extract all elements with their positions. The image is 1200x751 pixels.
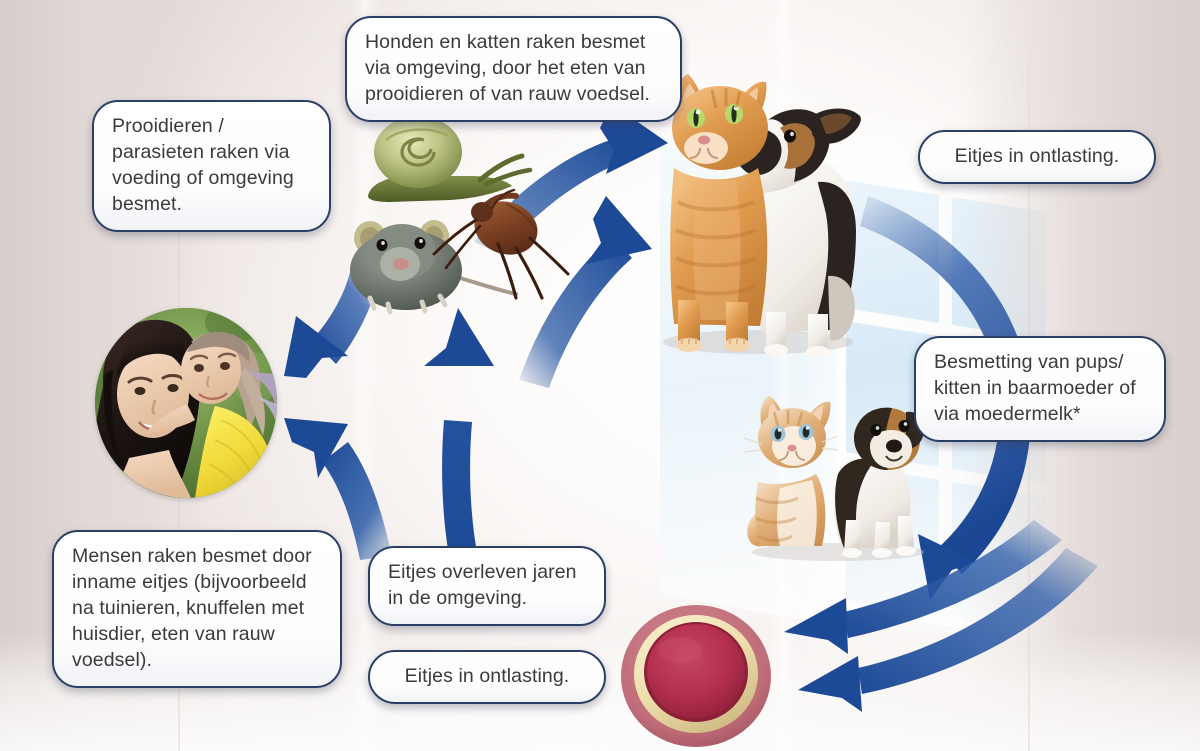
cat-figure xyxy=(670,74,768,352)
arrow-eggs-to-environment xyxy=(424,308,494,572)
puppy-figure xyxy=(833,408,924,558)
food-bowl-photo xyxy=(620,598,772,750)
callout-eggs-in-feces-right[interactable]: Eitjes in ontlasting. xyxy=(918,130,1156,184)
food-bowl-art xyxy=(620,598,772,750)
callout-eggs-survive[interactable]: Eitjes overleven jaren in de omgeving. xyxy=(368,546,606,626)
prey-animals-art xyxy=(330,112,572,310)
young-pets-art xyxy=(742,372,938,560)
callout-eggs-in-feces-bottom[interactable]: Eitjes in ontlasting. xyxy=(368,650,606,704)
family-photo-art xyxy=(95,308,277,498)
young-pets-photo xyxy=(742,372,938,560)
kitten-figure xyxy=(744,396,838,546)
infographic-canvas: Honden en katten raken besmet via omgevi… xyxy=(0,0,1200,751)
snail-icon xyxy=(368,116,530,202)
family-photo xyxy=(95,308,277,498)
callout-prey-animals[interactable]: Prooidieren / parasieten raken via voedi… xyxy=(92,100,331,232)
callout-dogs-cats[interactable]: Honden en katten raken besmet via omgevi… xyxy=(345,16,682,122)
prey-animals-photo xyxy=(330,112,572,310)
callout-puppies-kittens[interactable]: Besmetting van pups/ kitten in baarmoede… xyxy=(914,336,1166,442)
callout-humans-infection[interactable]: Mensen raken besmet door inname eitjes (… xyxy=(52,530,342,688)
